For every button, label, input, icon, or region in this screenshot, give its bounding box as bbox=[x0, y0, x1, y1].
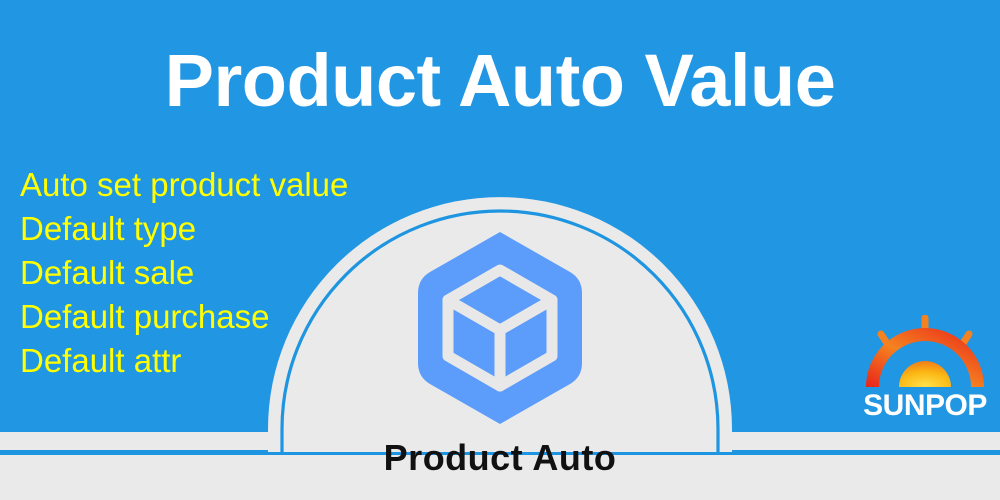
cube-hexagon-icon bbox=[400, 228, 600, 428]
promo-banner: Product Auto Value Auto set product valu… bbox=[0, 0, 1000, 500]
feature-item: Default attr bbox=[20, 339, 348, 383]
feature-item: Default sale bbox=[20, 251, 348, 295]
sunpop-wordmark: SUNPOP bbox=[863, 389, 987, 420]
sunpop-logo: SUNPOP bbox=[855, 315, 995, 420]
sun-semicircle-icon bbox=[899, 361, 951, 387]
product-name-label: Product Auto bbox=[0, 437, 1000, 479]
page-title: Product Auto Value bbox=[0, 44, 1000, 118]
feature-list: Auto set product value Default type Defa… bbox=[20, 163, 348, 383]
feature-item: Default purchase bbox=[20, 295, 348, 339]
feature-item: Default type bbox=[20, 207, 348, 251]
feature-item: Auto set product value bbox=[20, 163, 348, 207]
